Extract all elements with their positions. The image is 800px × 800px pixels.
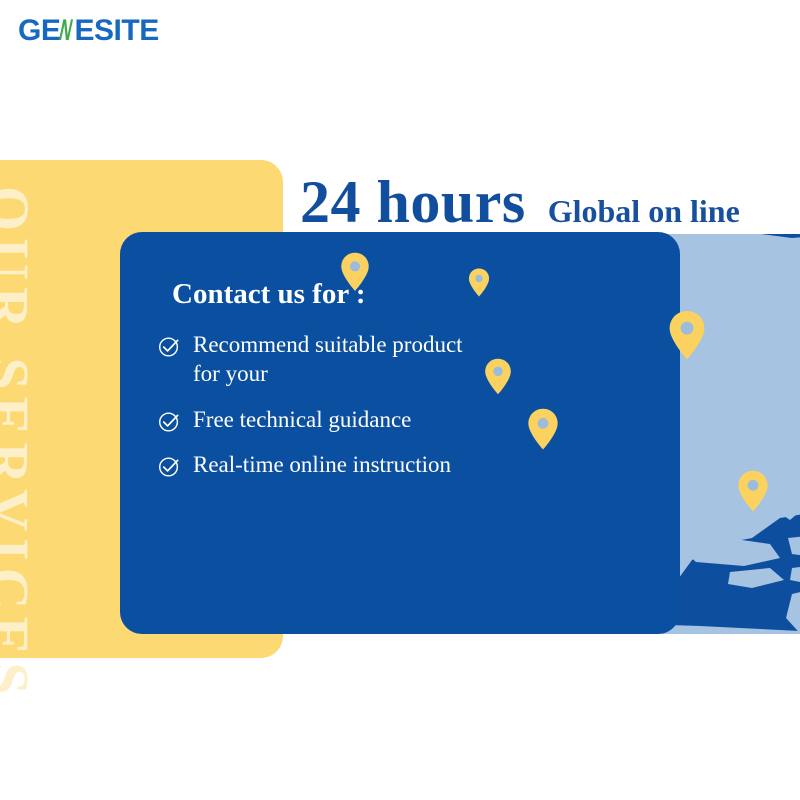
service-list-item: Recommend suitable product for your — [140, 330, 610, 389]
service-item-label: Free technical guidance — [193, 405, 411, 434]
service-item-label: Recommend suitable product for your — [193, 330, 463, 389]
map-pin-central-africa — [527, 408, 559, 450]
service-item-label: Real-time online instruction — [193, 450, 451, 479]
contact-card-heading: Contact us for : — [172, 280, 366, 309]
headline-main-text: 24 hours — [300, 172, 526, 232]
check-circle-icon — [158, 335, 181, 358]
map-pin-australia — [737, 470, 769, 512]
genesite-logo: GENESITE — [18, 16, 159, 46]
map-pin-central-asia — [668, 310, 706, 360]
headline-sub-text: Global on line — [548, 195, 740, 227]
map-pin-far-east — [468, 268, 490, 297]
service-banner: 24 hours Global on line OUR SERVICES Con… — [0, 0, 800, 800]
map-pin-west-africa — [484, 358, 512, 395]
contact-card: Contact us for : Recommend suitable prod… — [120, 232, 680, 634]
headline: 24 hours Global on line — [300, 172, 740, 232]
map-pin-north-russia — [340, 252, 370, 292]
service-list-item: Real-time online instruction — [140, 450, 610, 479]
check-circle-icon — [158, 410, 181, 433]
check-circle-icon — [158, 455, 181, 478]
logo-text-part2: ESITE — [75, 14, 159, 47]
our-services-vertical-title: OUR SERVICES — [0, 160, 40, 658]
logo-text-part1: GE — [18, 14, 60, 47]
